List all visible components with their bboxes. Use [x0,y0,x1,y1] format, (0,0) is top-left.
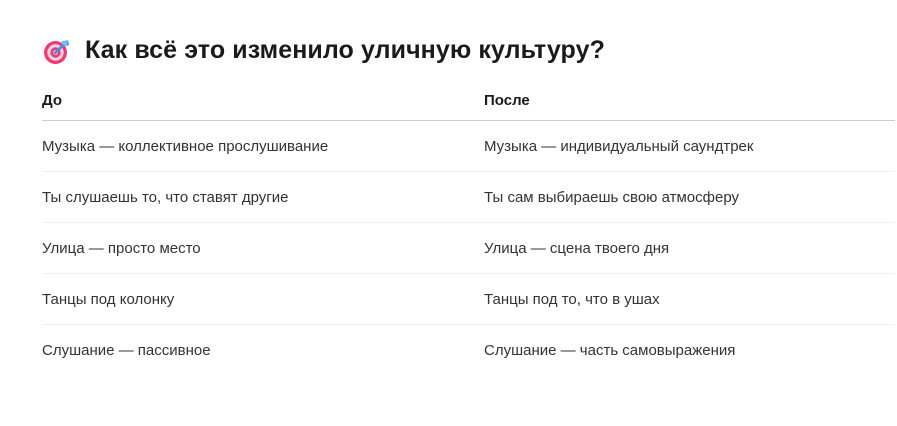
cell-after: Слушание — часть самовыражения [484,325,895,376]
column-header-after: После [484,92,895,121]
cell-after: Улица — сцена твоего дня [484,223,895,274]
page-root: Как всё это изменило уличную культуру? Д… [0,0,897,426]
cell-after: Ты сам выбираешь свою атмосферу [484,172,895,223]
column-header-before: До [42,92,484,121]
cell-before: Улица — просто место [42,223,484,274]
table-header: До После [42,92,895,121]
comparison-table: До После Музыка — коллективное прослушив… [42,92,895,375]
table-row: Ты слушаешь то, что ставят другие Ты сам… [42,172,895,223]
cell-before: Танцы под колонку [42,274,484,325]
table-body: Музыка — коллективное прослушивание Музы… [42,121,895,376]
table-row: Танцы под колонку Танцы под то, что в уш… [42,274,895,325]
cell-after: Танцы под то, что в ушах [484,274,895,325]
cell-before: Ты слушаешь то, что ставят другие [42,172,484,223]
table-header-row: До После [42,92,895,121]
page-title: Как всё это изменило уличную культуру? [85,37,605,65]
table-row: Музыка — коллективное прослушивание Музы… [42,121,895,172]
cell-after: Музыка — индивидуальный саундтрек [484,121,895,172]
page-heading: Как всё это изменило уличную культуру? [42,30,605,72]
table-row: Слушание — пассивное Слушание — часть са… [42,325,895,376]
table-row: Улица — просто место Улица — сцена твоег… [42,223,895,274]
cell-before: Слушание — пассивное [42,325,484,376]
cell-before: Музыка — коллективное прослушивание [42,121,484,172]
dartboard-target-icon [42,36,72,66]
